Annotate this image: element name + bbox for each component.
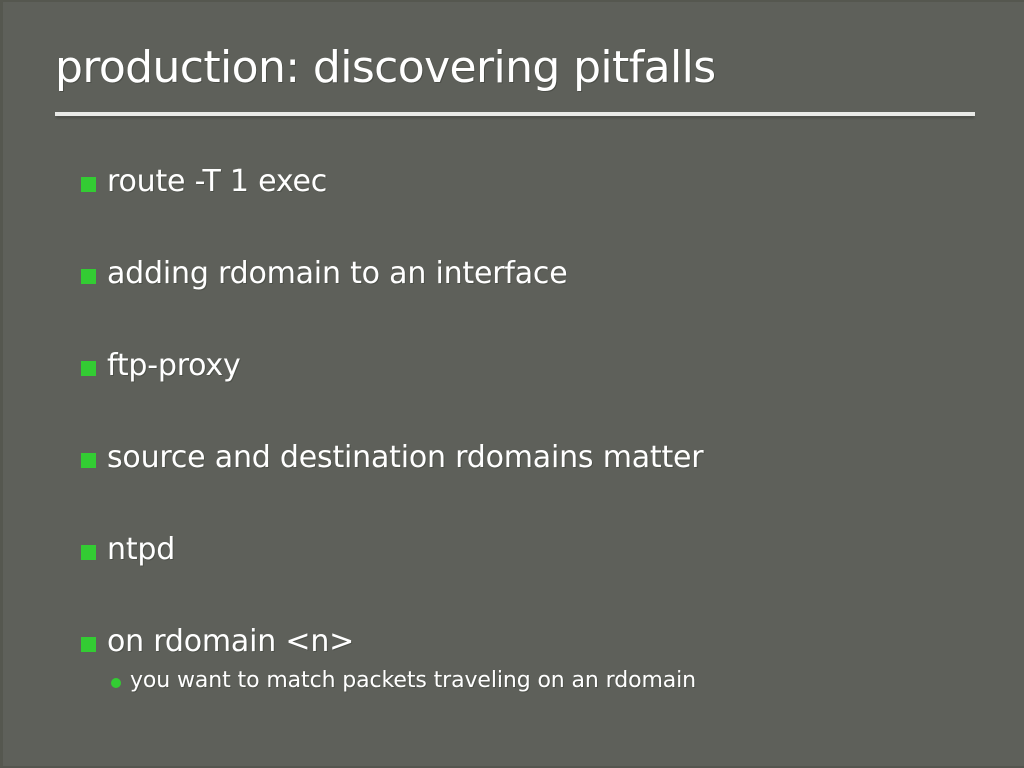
bullet-line: on rdomain <n> — [81, 622, 991, 662]
bullet-list: route -T 1 exec adding rdomain to an int… — [81, 162, 991, 714]
bullet-text: route -T 1 exec — [107, 162, 327, 202]
square-bullet-icon — [81, 637, 96, 652]
sub-list-item: you want to match packets traveling on a… — [111, 666, 991, 696]
bullet-text: ntpd — [107, 530, 175, 570]
list-item: route -T 1 exec — [81, 162, 991, 254]
bullet-line: ftp-proxy — [81, 346, 991, 386]
bullet-line: ntpd — [81, 530, 991, 570]
square-bullet-icon — [81, 269, 96, 284]
sub-bullet-text: you want to match packets traveling on a… — [130, 666, 696, 696]
bullet-text: source and destination rdomains matter — [107, 438, 703, 478]
slide-title-block: production: discovering pitfalls — [55, 42, 975, 94]
list-item: adding rdomain to an interface — [81, 254, 991, 346]
title-divider — [55, 112, 975, 116]
dot-bullet-icon — [111, 678, 121, 688]
square-bullet-icon — [81, 177, 96, 192]
bullet-line: route -T 1 exec — [81, 162, 991, 202]
list-item: ftp-proxy — [81, 346, 991, 438]
bullet-line: adding rdomain to an interface — [81, 254, 991, 294]
bullet-text: adding rdomain to an interface — [107, 254, 567, 294]
bullet-text: ftp-proxy — [107, 346, 241, 386]
presentation-slide: production: discovering pitfalls route -… — [0, 0, 1024, 768]
square-bullet-icon — [81, 361, 96, 376]
page-title: production: discovering pitfalls — [55, 42, 975, 94]
bullet-text: on rdomain <n> — [107, 622, 354, 662]
list-item: source and destination rdomains matter — [81, 438, 991, 530]
square-bullet-icon — [81, 545, 96, 560]
list-item: on rdomain <n> you want to match packets… — [81, 622, 991, 714]
list-item: ntpd — [81, 530, 991, 622]
square-bullet-icon — [81, 453, 96, 468]
bullet-line: source and destination rdomains matter — [81, 438, 991, 478]
